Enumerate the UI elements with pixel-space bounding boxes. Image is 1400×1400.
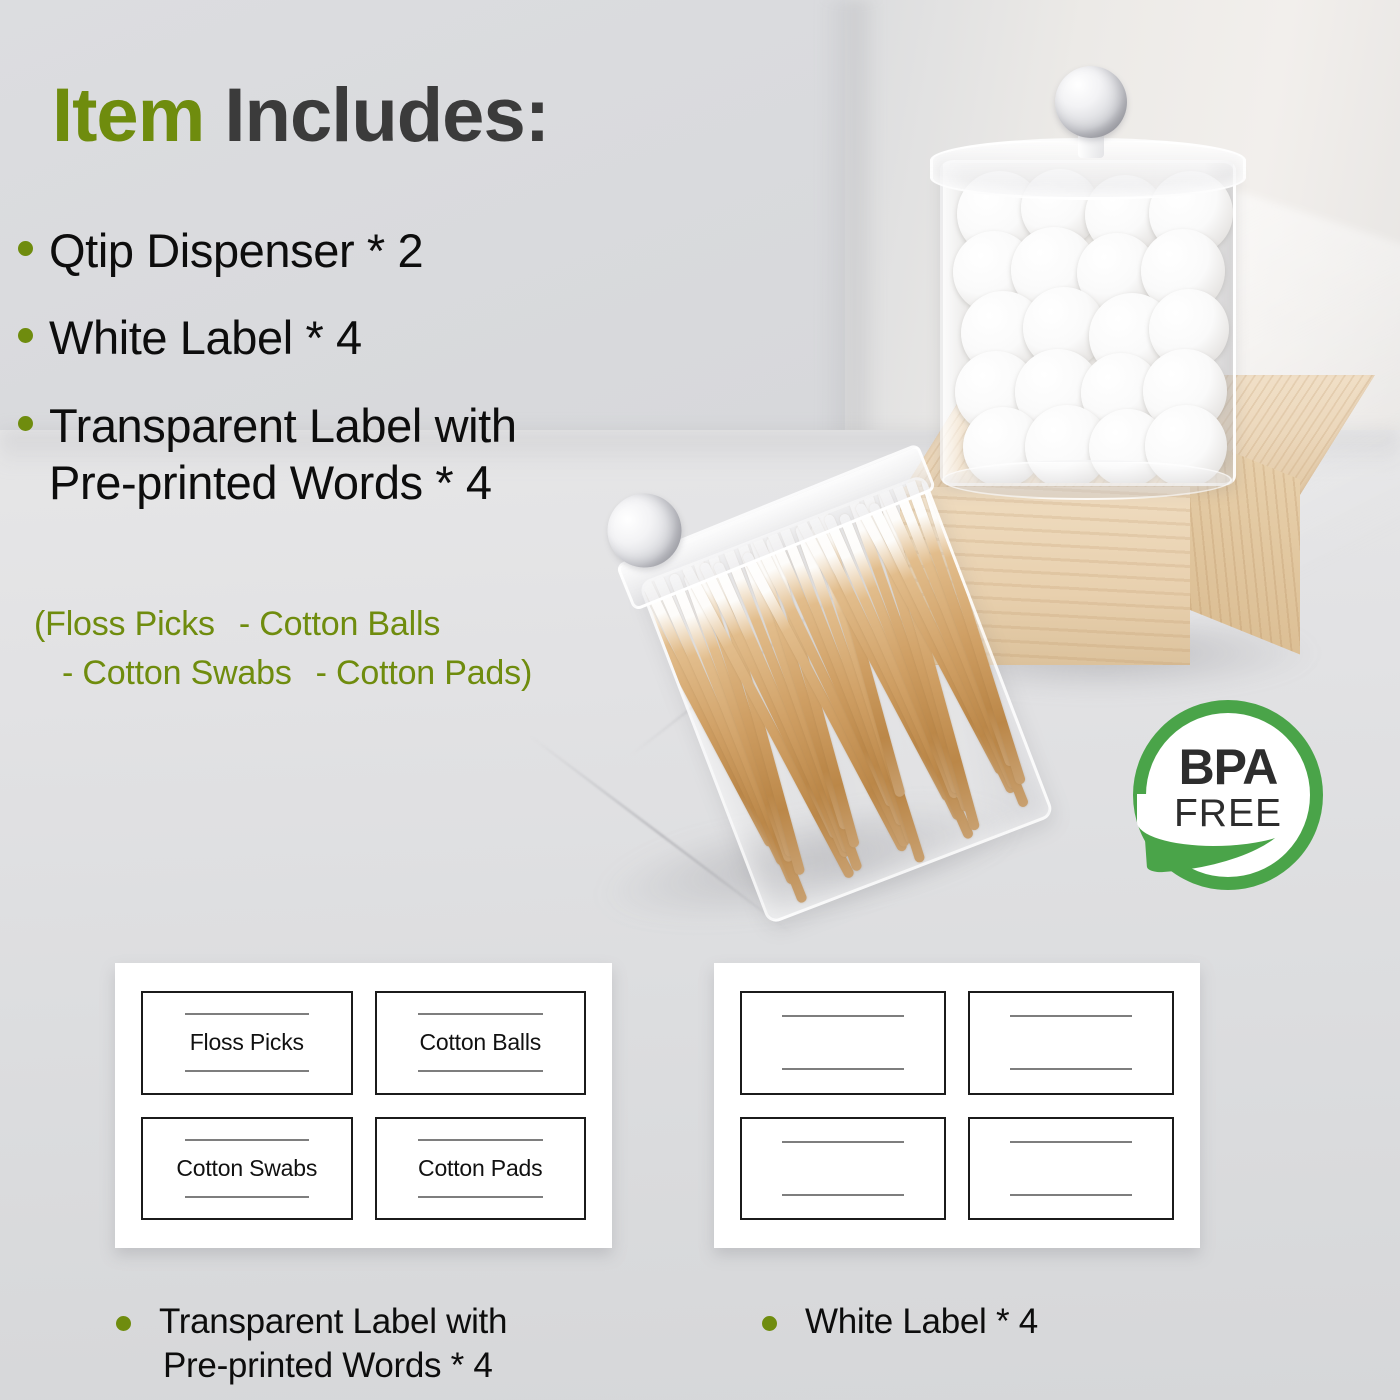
upright-jar-base: [942, 460, 1232, 500]
label-rule-bottom: [1010, 1194, 1131, 1196]
upright-qtip-dispenser: [930, 60, 1240, 480]
label-rule-top: [1010, 1141, 1131, 1143]
list-item-label-line1: Transparent Label with: [49, 399, 517, 452]
bullet-dot-icon: [762, 1316, 777, 1331]
label-rule-top: [418, 1013, 543, 1015]
bullet-dot-icon: [18, 241, 33, 256]
label-cell: [962, 985, 1180, 1101]
label-rule-bottom: [185, 1070, 310, 1072]
label-word: Cotton Swabs: [176, 1155, 317, 1182]
label-rule-top: [782, 1141, 903, 1143]
caption-line1: White Label * 4: [805, 1302, 1038, 1341]
label-rule-bottom: [782, 1068, 903, 1070]
label-box: Cotton Pads: [375, 1117, 587, 1221]
page-title: Item Includes:: [52, 78, 549, 154]
label-box: Floss Picks: [141, 991, 353, 1095]
label-cell: Cotton Balls: [369, 985, 593, 1101]
label-rule-bottom: [1010, 1068, 1131, 1070]
label-box: [968, 991, 1174, 1095]
upright-jar-body: [940, 160, 1236, 486]
label-rule-bottom: [418, 1196, 543, 1198]
label-cell: Floss Picks: [135, 985, 359, 1101]
label-cell: [962, 1111, 1180, 1227]
caption-line2: Pre-printed Words * 4: [159, 1344, 507, 1388]
caption-label: Transparent Label with Pre-printed Words…: [159, 1300, 507, 1388]
label-cell: [734, 1111, 952, 1227]
label-box: Cotton Balls: [375, 991, 587, 1095]
label-box: [968, 1117, 1174, 1221]
list-item-label-line2: Pre-printed Words * 4: [49, 454, 517, 511]
label-box: [740, 1117, 946, 1221]
bullet-dot-icon: [18, 328, 33, 343]
label-word: Cotton Balls: [419, 1029, 541, 1056]
bpa-badge-bottom-label: FREE: [1174, 794, 1282, 833]
bullet-dot-icon: [18, 416, 33, 431]
transparent-sheet-caption: Transparent Label with Pre-printed Words…: [116, 1300, 636, 1388]
list-item-label-multiline: Transparent Label with Pre-printed Words…: [49, 397, 517, 512]
bullet-dot-icon: [116, 1316, 131, 1331]
label-box: Cotton Swabs: [141, 1117, 353, 1221]
upright-jar-knob: [1055, 66, 1127, 138]
label-cell: Cotton Pads: [369, 1111, 593, 1227]
label-rule-top: [418, 1139, 543, 1141]
list-item-label: White Label * 4: [49, 309, 362, 366]
note-close-paren: ): [521, 654, 532, 692]
label-rule-bottom: [782, 1194, 903, 1196]
includes-list: Qtip Dispenser * 2 White Label * 4 Trans…: [18, 222, 658, 541]
label-box: [740, 991, 946, 1095]
note-cotton-balls: - Cotton Balls: [239, 605, 440, 643]
label-rule-top: [185, 1139, 310, 1141]
bpa-free-badge-icon: BPA FREE: [1133, 700, 1323, 890]
label-rule-bottom: [185, 1196, 310, 1198]
bpa-badge-text: BPA FREE: [1133, 700, 1323, 890]
title-word-includes: Includes:: [224, 73, 549, 158]
note-open-paren: (: [34, 605, 45, 643]
white-label-sheet: [714, 963, 1200, 1248]
label-word: Cotton Pads: [418, 1155, 542, 1182]
label-rule-top: [782, 1015, 903, 1017]
label-rule-top: [185, 1013, 310, 1015]
list-item-label: Qtip Dispenser * 2: [49, 222, 423, 279]
product-infographic: Item Includes: Qtip Dispenser * 2 White …: [0, 0, 1400, 1400]
caption-label: White Label * 4: [805, 1300, 1038, 1344]
label-cell: [734, 985, 952, 1101]
transparent-label-sheet: Floss Picks Cotton Balls Cotton Swabs Co…: [115, 963, 612, 1248]
note-cotton-swabs: - Cotton Swabs: [62, 654, 292, 692]
note-cotton-pads: - Cotton Pads: [316, 654, 521, 692]
label-names-note: (Floss Picks- Cotton Balls - Cotton Swab…: [34, 600, 532, 699]
list-item: Qtip Dispenser * 2: [18, 222, 658, 279]
label-rule-top: [1010, 1015, 1131, 1017]
title-word-item: Item: [52, 73, 204, 158]
list-item: Transparent Label with Pre-printed Words…: [18, 397, 658, 512]
label-rule-bottom: [418, 1070, 543, 1072]
cotton-balls-fill: [953, 169, 1223, 479]
white-sheet-caption: White Label * 4: [762, 1300, 1202, 1344]
list-item: White Label * 4: [18, 309, 658, 366]
bpa-badge-top-label: BPA: [1179, 743, 1278, 792]
label-word: Floss Picks: [190, 1029, 304, 1056]
label-cell: Cotton Swabs: [135, 1111, 359, 1227]
caption-line1: Transparent Label with: [159, 1302, 507, 1341]
note-floss-picks: Floss Picks: [45, 605, 215, 643]
